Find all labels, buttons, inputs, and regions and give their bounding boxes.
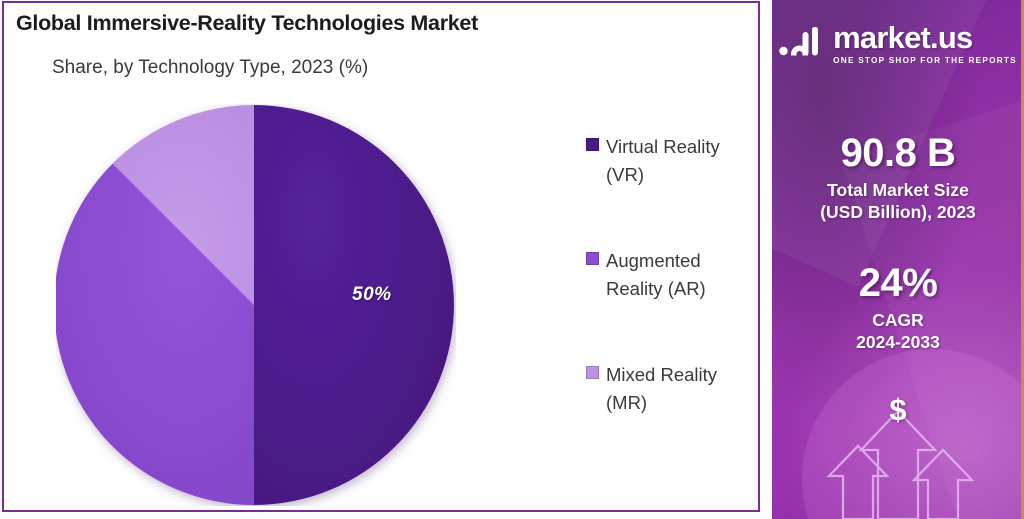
stat-value-total-market-size: 90.8 B (772, 132, 1024, 174)
legend-label-augmented-reality: Augmented Reality (AR) (606, 247, 751, 303)
stat-caption-line-2: (USD Billion), 2023 (772, 201, 1024, 223)
legend-label-virtual-reality: Virtual Reality (VR) (606, 133, 751, 189)
brand-logo[interactable]: market.us ONE STOP SHOP FOR THE REPORTS (772, 22, 1024, 65)
stat-caption-cagr: CAGR 2024-2033 (772, 309, 1024, 354)
legend-swatch-augmented-reality (586, 252, 599, 265)
logo-wordmark: market.us (833, 22, 1017, 53)
brand-panel: market.us ONE STOP SHOP FOR THE REPORTS … (772, 0, 1024, 519)
stat-caption-total-market-size: Total Market Size (USD Billion), 2023 (772, 179, 1024, 224)
legend-swatch-virtual-reality (586, 138, 599, 151)
legend-swatch-mixed-reality (586, 366, 599, 379)
legend-item-augmented-reality[interactable]: Augmented Reality (AR) (586, 247, 751, 303)
bar-chart-logo-icon (779, 23, 825, 64)
stat-total-market-size: 90.8 B Total Market Size (USD Billion), … (772, 132, 1024, 224)
pie-slices (56, 105, 454, 505)
pie-chart: 50% (56, 104, 456, 506)
arrow-up-right-icon (914, 450, 972, 519)
chart-title: Global Immersive-Reality Technologies Ma… (16, 11, 478, 36)
logo-text-block: market.us ONE STOP SHOP FOR THE REPORTS (833, 22, 1017, 65)
chart-panel: Global Immersive-Reality Technologies Ma… (2, 1, 760, 512)
pie-chart-svg (56, 104, 456, 506)
chart-subtitle: Share, by Technology Type, 2023 (%) (52, 57, 368, 79)
chart-legend: Virtual Reality (VR) Augmented Reality (… (586, 133, 751, 475)
stat-caption-line-1: CAGR (772, 309, 1024, 331)
legend-item-mixed-reality[interactable]: Mixed Reality (MR) (586, 361, 751, 417)
legend-label-mixed-reality: Mixed Reality (MR) (606, 361, 751, 417)
dollar-sign-icon: $ (772, 392, 1024, 428)
logo-tagline: ONE STOP SHOP FOR THE REPORTS (833, 57, 1017, 65)
pie-data-label-virtual-reality: 50% (352, 284, 392, 306)
stat-cagr: 24% CAGR 2024-2033 (772, 262, 1024, 354)
growth-arrows-graphic: $ (772, 384, 1024, 519)
legend-item-virtual-reality[interactable]: Virtual Reality (VR) (586, 133, 751, 189)
stat-caption-line-1: Total Market Size (772, 179, 1024, 201)
stat-caption-line-2: 2024-2033 (772, 331, 1024, 353)
stat-value-cagr: 24% (772, 262, 1024, 304)
